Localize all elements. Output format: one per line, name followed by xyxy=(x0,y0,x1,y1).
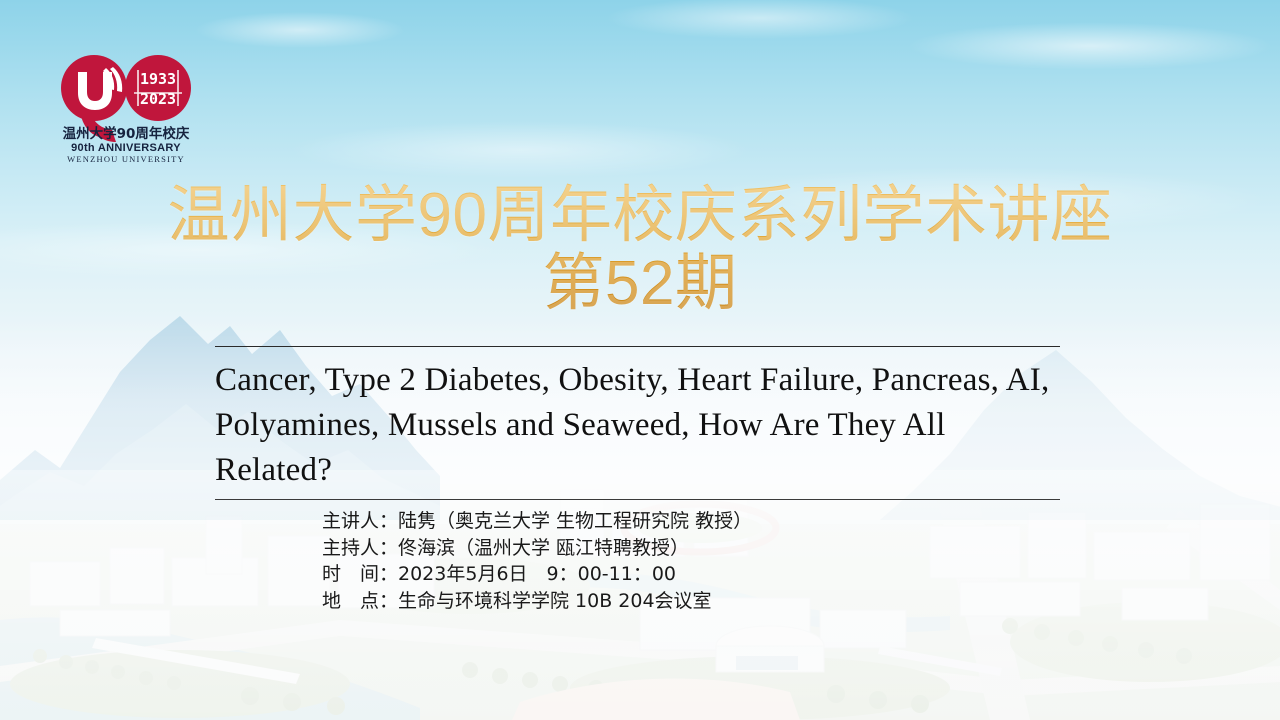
detail-speaker: 主讲人：陆隽（奥克兰大学 生物工程研究院 教授） xyxy=(322,508,752,535)
detail-location: 地 点：生命与环境科学学院 10B 204会议室 xyxy=(322,588,752,615)
logo-year-start: 1933 xyxy=(140,70,176,88)
lecture-details: 主讲人：陆隽（奥克兰大学 生物工程研究院 教授） 主持人：佟海滨（温州大学 瓯江… xyxy=(322,508,752,614)
logo-mark: 1933 2023 温州大学90周年校庆 90th ANNIVERSARY WE… xyxy=(50,48,202,166)
detail-host: 主持人：佟海滨（温州大学 瓯江特聘教授） xyxy=(322,535,752,562)
poster-canvas: 1933 2023 温州大学90周年校庆 90th ANNIVERSARY WE… xyxy=(0,0,1280,720)
lecture-title-block: Cancer, Type 2 Diabetes, Obesity, Heart … xyxy=(215,346,1060,500)
wenzhou-university-90th-anniversary-logo: 1933 2023 温州大学90周年校庆 90th ANNIVERSARY WE… xyxy=(50,48,202,166)
logo-chinese-lockup: 温州大学90周年校庆 xyxy=(63,125,190,142)
logo-university-lockup: WENZHOU UNIVERSITY xyxy=(67,154,185,164)
logo-anniversary-lockup: 90th ANNIVERSARY xyxy=(71,142,181,154)
rule-bottom xyxy=(215,499,1060,500)
lecture-title-english: Cancer, Type 2 Diabetes, Obesity, Heart … xyxy=(215,347,1060,499)
detail-time: 时 间：2023年5月6日 9：00-11：00 xyxy=(322,561,752,588)
page-title: 温州大学90周年校庆系列学术讲座 第52期 xyxy=(0,182,1280,318)
